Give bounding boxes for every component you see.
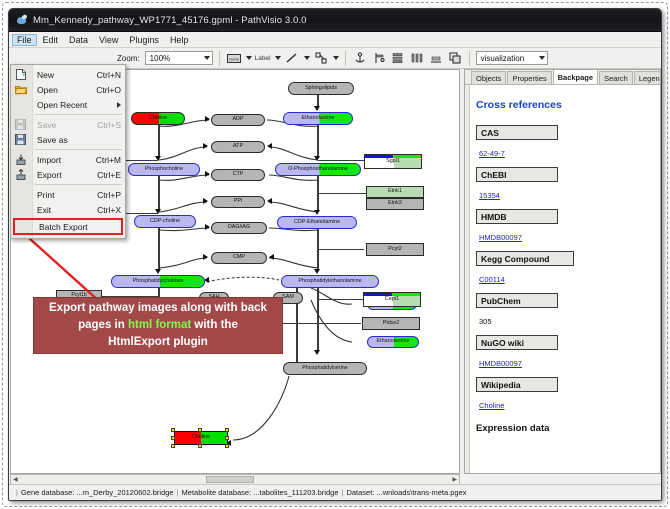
menu-plugins[interactable]: Plugins — [124, 34, 164, 46]
status-metabolite-database-value: ...tabolites_111203.bridge — [253, 488, 338, 497]
xref-link-kegg-compound[interactable]: C00114 — [479, 275, 505, 284]
export-icon — [15, 169, 27, 180]
pathway-node-ethanolamine[interactable]: Ethanolamine — [283, 112, 353, 125]
save-disk-icon — [15, 119, 27, 130]
arrow-icon — [267, 143, 272, 149]
xref-link-chebi[interactable]: 15354 — [479, 191, 500, 200]
gene-node-ptdss2[interactable]: Ptdss2 — [362, 317, 420, 330]
selection-handle[interactable] — [225, 428, 229, 432]
screenshot-root: Mm_Kennedy_pathway_WP1771_45176.gpml - P… — [0, 0, 670, 509]
status-gene-database-value: ...m_Derby_20120602.bridge — [76, 488, 173, 497]
status-sep-2: | — [341, 488, 343, 497]
node-label: Sgpl1 — [386, 159, 400, 164]
cross-references-title: Cross references — [476, 99, 657, 111]
side-panel-tabs: Objects Properties Backpage Search Legen… — [465, 70, 660, 85]
expression-bar — [365, 155, 421, 158]
pathvisio-icon — [15, 14, 28, 27]
expression-bar — [364, 293, 420, 296]
node-label: CMP — [233, 255, 245, 260]
menu-item-label: Save as — [37, 135, 121, 145]
menu-item-label: Open — [37, 85, 96, 95]
arrow-icon — [314, 210, 320, 215]
annotation-line2b: with the — [191, 319, 238, 331]
menu-item-batch-export[interactable]: Batch Export — [13, 218, 123, 235]
tab-search[interactable]: Search — [599, 71, 633, 84]
node-label: Phosphatidylcholines — [133, 279, 184, 284]
menu-item-label: Print — [37, 190, 97, 200]
node-label: Ptdss2 — [383, 321, 399, 326]
gene-link — [318, 249, 364, 250]
node-label: Choline — [192, 435, 210, 440]
pathway-node-choline-top[interactable]: Choline — [131, 112, 185, 125]
visualization-value: visualization — [481, 54, 525, 63]
pathway-node-phosphocholine[interactable]: Phosphocholine — [128, 163, 200, 176]
arrow-icon — [155, 269, 161, 274]
menu-item-label: Batch Export — [39, 222, 117, 232]
selection-handle[interactable] — [171, 428, 175, 432]
file-menu-dropdown[interactable]: New Ctrl+N Open Ctrl+O Open Recent Save — [10, 64, 126, 239]
menu-item-open-recent[interactable]: Open Recent — [11, 97, 125, 112]
annotation-line3: HtmlExport plugin — [108, 336, 208, 348]
connector-line — [317, 125, 319, 157]
toolbar-separator — [219, 51, 220, 66]
xref-link-nugo-wiki[interactable]: HMDB00097 — [479, 359, 522, 368]
menu-item-accel: Ctrl+N — [97, 70, 121, 80]
pathway-node-dag[interactable]: DAG/iAG — [211, 222, 267, 234]
selection-handle[interactable] — [225, 444, 229, 448]
menu-item-new[interactable]: New Ctrl+N — [11, 67, 125, 82]
xref-header-nugo-wiki: NuGO wiki — [476, 335, 558, 350]
pathway-node-ctp[interactable]: CTP — [211, 169, 265, 181]
scrollbar-thumb[interactable] — [206, 476, 254, 483]
node-label: CDP-Ethanolamine — [294, 220, 340, 225]
node-label: Etnk2 — [388, 201, 402, 206]
xref-header-cas: CAS — [476, 125, 558, 140]
label-dropdown-icon[interactable] — [275, 56, 281, 60]
node-label: Phosphatidylserine — [302, 366, 348, 371]
selection-handle[interactable] — [198, 444, 202, 448]
menu-separator-3 — [35, 184, 122, 185]
pathway-node-cmp[interactable]: CMP — [211, 252, 267, 264]
xref-header-pubchem: PubChem — [476, 293, 558, 308]
xref-header-hmdb: HMDB — [476, 209, 558, 224]
node-label: ADP — [232, 117, 243, 122]
node-label: SAM — [282, 295, 294, 300]
annotation-line1: Export pathway images along with back — [49, 302, 267, 314]
menu-item-accel: Ctrl+X — [97, 205, 121, 215]
gene-node-sgpl1[interactable]: Sgpl1 — [364, 154, 422, 169]
arrow-icon — [205, 171, 210, 177]
menu-bar: File Edit Data View Plugins Help — [9, 32, 661, 48]
xref-value-pubchem: 305 — [479, 317, 492, 326]
menu-help[interactable]: Help — [165, 34, 194, 46]
annotation-callout: Export pathway images along with back pa… — [33, 297, 283, 354]
pathway-node-atp[interactable]: ATP — [211, 141, 265, 153]
distribute-icon[interactable] — [409, 50, 425, 66]
node-label: Choline — [149, 116, 167, 121]
status-sep-0: | — [16, 488, 18, 497]
visualization-combo[interactable]: visualization — [476, 51, 548, 65]
open-folder-icon — [15, 84, 27, 95]
menu-item-exit[interactable]: Exit Ctrl+X — [11, 202, 125, 217]
gene-node-etnk1[interactable]: Etnk1 — [366, 186, 424, 198]
shape-tool-icon[interactable] — [313, 50, 329, 66]
side-panel: Objects Properties Backpage Search Legen… — [464, 69, 661, 474]
node-label: Pcyt2 — [388, 247, 401, 252]
menu-item-open[interactable]: Open Ctrl+O — [11, 82, 125, 97]
selection-handle[interactable] — [198, 428, 202, 432]
menu-item-save: Save Ctrl+S — [11, 117, 125, 132]
menu-item-print[interactable]: Print Ctrl+P — [11, 187, 125, 202]
datanode-tool-button[interactable]: Gene — [226, 50, 242, 66]
status-metabolite-database-label: Metabolite database: — [182, 488, 252, 497]
arrow-icon — [314, 269, 320, 274]
pathway-node-cdp-ethanolamine[interactable]: CDP-Ethanolamine — [277, 216, 357, 229]
arrow-icon — [269, 254, 274, 260]
pathway-node-ppi[interactable]: PPi — [211, 196, 265, 208]
status-dataset-label: Dataset: — [346, 488, 374, 497]
status-gene-database-label: Gene database: — [21, 488, 74, 497]
pathway-node-ethanolamine-2[interactable]: Ethanolamine — [367, 336, 419, 348]
menu-item-accel: Ctrl+E — [97, 170, 121, 180]
connector-line — [158, 228, 160, 269]
line-tool-icon[interactable] — [284, 50, 300, 66]
shape-dropdown-icon[interactable] — [333, 56, 339, 60]
arrow-icon — [314, 350, 320, 355]
node-label: ATP — [233, 144, 243, 149]
datanode-dropdown-icon[interactable] — [246, 56, 252, 60]
tab-legend[interactable]: Legend — [634, 71, 661, 84]
xref-link-cas[interactable]: 62-49-7 — [479, 149, 505, 158]
status-sep-1: | — [177, 488, 179, 497]
pathway-node-phosphatidylcholines[interactable]: Phosphatidylcholines — [111, 275, 205, 288]
anchor-icon[interactable] — [352, 50, 368, 66]
node-label: Ethanolamine — [377, 339, 410, 344]
node-label: Etnk1 — [388, 189, 402, 194]
selection-handle[interactable] — [171, 444, 175, 448]
line-dropdown-icon[interactable] — [304, 56, 310, 60]
arrow-icon — [314, 106, 320, 111]
menu-separator — [35, 114, 122, 115]
arrow-icon — [203, 198, 208, 204]
connector-line — [158, 125, 160, 157]
menu-item-label: Exit — [37, 205, 97, 215]
menu-item-accel: Ctrl+S — [97, 120, 121, 130]
menu-item-save-as[interactable]: Save as — [11, 132, 125, 147]
menu-data[interactable]: Data — [64, 34, 93, 46]
group-icon[interactable] — [428, 50, 444, 66]
node-label: Ethanolamine — [302, 116, 335, 121]
node-label: Phosphocholine — [145, 167, 183, 172]
xref-header-wikipedia: Wikipedia — [476, 377, 558, 392]
menu-item-accel: Ctrl+O — [96, 85, 121, 95]
gene-link — [318, 160, 366, 161]
menu-item-label: Import — [37, 155, 96, 165]
order-icon[interactable] — [447, 50, 463, 66]
arrow-icon — [267, 198, 272, 204]
label-tool-button[interactable]: Label — [255, 55, 271, 62]
tab-properties[interactable]: Properties — [507, 71, 551, 84]
chevron-down-icon-2 — [539, 56, 545, 60]
selection-handle[interactable] — [171, 436, 175, 440]
backpage-content: Cross references CAS 62-49-7 ChEBI 15354… — [470, 88, 657, 470]
node-label: CDP-choline — [150, 219, 180, 224]
zoom-label: Zoom: — [117, 54, 140, 63]
arrow-icon — [203, 143, 208, 149]
xref-link-hmdb[interactable]: HMDB00097 — [479, 233, 522, 242]
node-label: O-Phosphoethanolamine — [288, 167, 348, 172]
annotation-line2a: pages in — [78, 319, 128, 331]
menu-item-label: Save — [37, 120, 97, 130]
menu-item-label: Open Recent — [37, 100, 117, 110]
status-bar: | Gene database: ...m_Derby_20120602.bri… — [9, 484, 661, 500]
stack-icon[interactable] — [390, 50, 406, 66]
align-icon[interactable] — [371, 50, 387, 66]
connector-line — [158, 176, 160, 209]
node-label: Phosphatidylethanolamine — [298, 279, 361, 284]
scroll-right-icon[interactable]: ▶ — [450, 476, 459, 483]
save-as-icon — [15, 134, 27, 145]
tab-backpage[interactable]: Backpage — [553, 69, 598, 84]
xref-link-wikipedia[interactable]: Choline — [479, 401, 504, 410]
toolbar-separator-2 — [345, 51, 346, 66]
pathway-node-cdp-choline[interactable]: CDP-choline — [134, 215, 196, 228]
toolbar-separator-3 — [469, 51, 470, 66]
zoom-combo[interactable]: 100% — [145, 51, 213, 65]
gene-node-etnk2[interactable]: Etnk2 — [366, 198, 424, 210]
chevron-down-icon — [204, 56, 210, 60]
menu-edit[interactable]: Edit — [38, 34, 64, 46]
gene-link — [318, 299, 364, 300]
xref-header-chebi: ChEBI — [476, 167, 558, 182]
menu-item-export[interactable]: Export Ctrl+E — [11, 167, 125, 182]
selection-handle[interactable] — [225, 436, 229, 440]
annotation-highlight: html format — [128, 319, 191, 331]
gene-link — [318, 193, 366, 194]
submenu-arrow-icon — [117, 102, 121, 108]
node-label: Cept1 — [385, 297, 399, 302]
tab-objects[interactable]: Objects — [471, 71, 506, 84]
title-bar: Mm_Kennedy_pathway_WP1771_45176.gpml - P… — [9, 9, 661, 32]
menu-item-import[interactable]: Import Ctrl+M — [11, 152, 125, 167]
gene-node-pcyt2[interactable]: Pcyt2 — [366, 243, 424, 256]
node-label: DAG/iAG — [228, 225, 250, 230]
status-dataset-value: ...wnloads\trans-meta.pgex — [376, 488, 466, 497]
import-icon — [15, 154, 27, 165]
connector-line — [317, 288, 319, 350]
arrow-icon — [203, 254, 208, 260]
expression-data-title: Expression data — [476, 423, 657, 434]
svg-text:Gene: Gene — [229, 56, 240, 61]
menu-separator-2 — [35, 149, 122, 150]
arrow-icon — [205, 116, 210, 122]
pathway-node-o-phosphoethanolamine[interactable]: O-Phosphoethanolamine — [275, 163, 361, 176]
menu-view[interactable]: View — [94, 34, 123, 46]
pathway-node-sphingolipids[interactable]: Sphingolipids — [288, 82, 354, 95]
xref-header-kegg-compound: Kegg Compound — [476, 251, 574, 266]
pathway-node-choline-selected[interactable]: Choline — [174, 431, 228, 445]
menu-item-accel: Ctrl+P — [97, 190, 121, 200]
window-title: Mm_Kennedy_pathway_WP1771_45176.gpml - P… — [33, 15, 307, 26]
arrow-icon — [205, 224, 210, 230]
pathway-node-phosphatidylethanolamine[interactable]: Phosphatidylethanolamine — [281, 275, 379, 288]
pathvisio-window: Mm_Kennedy_pathway_WP1771_45176.gpml - P… — [8, 8, 662, 501]
gene-node-cept1[interactable]: Cept1 — [363, 292, 421, 307]
menu-item-accel: Ctrl+M — [96, 155, 121, 165]
node-label: CTP — [233, 172, 244, 177]
menu-item-label: Export — [37, 170, 97, 180]
menu-file[interactable]: File — [12, 34, 37, 46]
new-document-icon — [15, 69, 27, 80]
node-label: PPi — [234, 199, 242, 204]
pathway-node-adp[interactable]: ADP — [211, 114, 265, 126]
zoom-value: 100% — [150, 54, 170, 63]
menu-item-label: New — [37, 70, 97, 80]
node-label: Sphingolipids — [305, 86, 337, 91]
scroll-left-icon[interactable]: ◀ — [11, 476, 20, 483]
pathway-node-phosphatidylserine[interactable]: Phosphatidylserine — [283, 362, 367, 375]
